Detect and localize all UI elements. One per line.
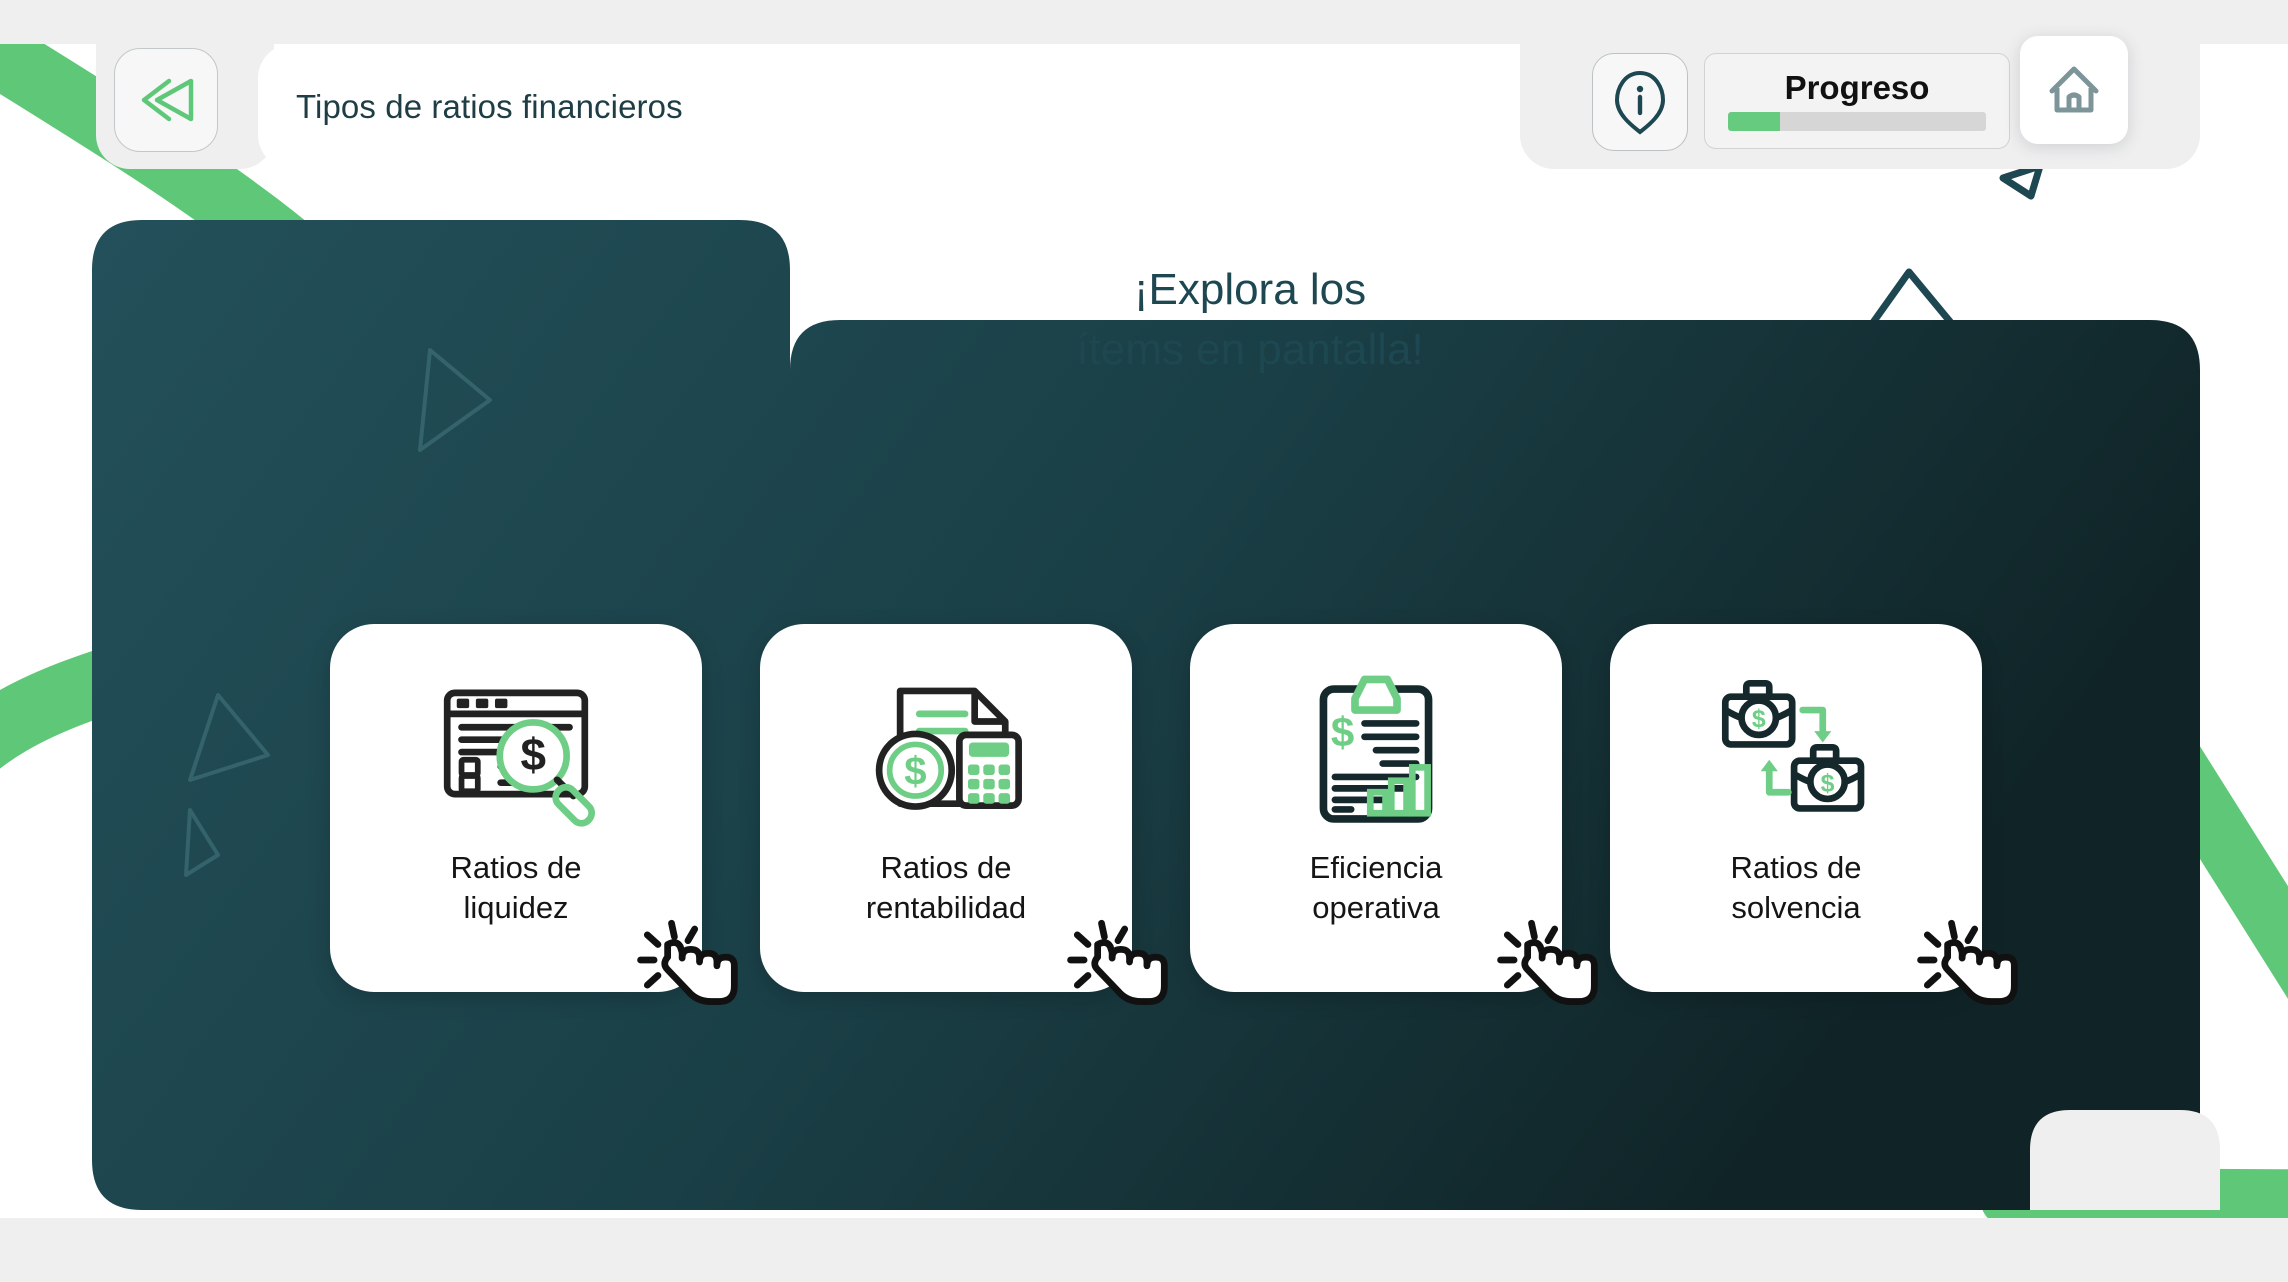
- card-ratios-de-solvencia[interactable]: $ $ Ratios de solvencia: [1610, 624, 1982, 992]
- tap-hand-icon: [628, 902, 744, 1018]
- card-ratios-de-liquidez[interactable]: $ Ratios de liquidez: [330, 624, 702, 992]
- progress-indicator[interactable]: Progreso: [1704, 53, 2010, 149]
- card-eficiencia-operativa[interactable]: $ Eficiencia operativa: [1190, 624, 1562, 992]
- cards-container: $ Ratios de liquidez: [0, 0, 2288, 1282]
- tap-hand-icon: [1058, 902, 1174, 1018]
- progress-label: Progreso: [1785, 71, 1930, 104]
- progress-fill: [1728, 112, 1780, 131]
- svg-text:$: $: [1752, 706, 1766, 733]
- home-icon: [2045, 61, 2103, 119]
- info-circle-icon: [1613, 69, 1667, 135]
- browser-dollar-magnifier-icon: $: [430, 668, 602, 840]
- progress-track: [1728, 112, 1986, 131]
- card-label: Eficiencia operativa: [1298, 848, 1455, 927]
- svg-text:$: $: [1331, 708, 1354, 755]
- tap-hand-icon: [1488, 902, 1604, 1018]
- document-coin-calculator-icon: $: [860, 668, 1032, 840]
- card-label: Ratios de liquidez: [439, 848, 594, 927]
- briefcase-exchange-icon: $ $: [1710, 668, 1882, 840]
- tap-hand-icon: [1908, 902, 2024, 1018]
- info-button[interactable]: [1592, 53, 1688, 151]
- svg-text:$: $: [1821, 770, 1835, 797]
- card-label: Ratios de rentabilidad: [854, 848, 1038, 927]
- card-label: Ratios de solvencia: [1719, 848, 1874, 927]
- home-button[interactable]: [2020, 36, 2128, 144]
- svg-text:$: $: [520, 728, 546, 780]
- clipboard-dollar-barchart-icon: $: [1290, 668, 1462, 840]
- card-ratios-de-rentabilidad[interactable]: $ Ratios de rentabilidad: [760, 624, 1132, 992]
- svg-text:$: $: [904, 749, 926, 794]
